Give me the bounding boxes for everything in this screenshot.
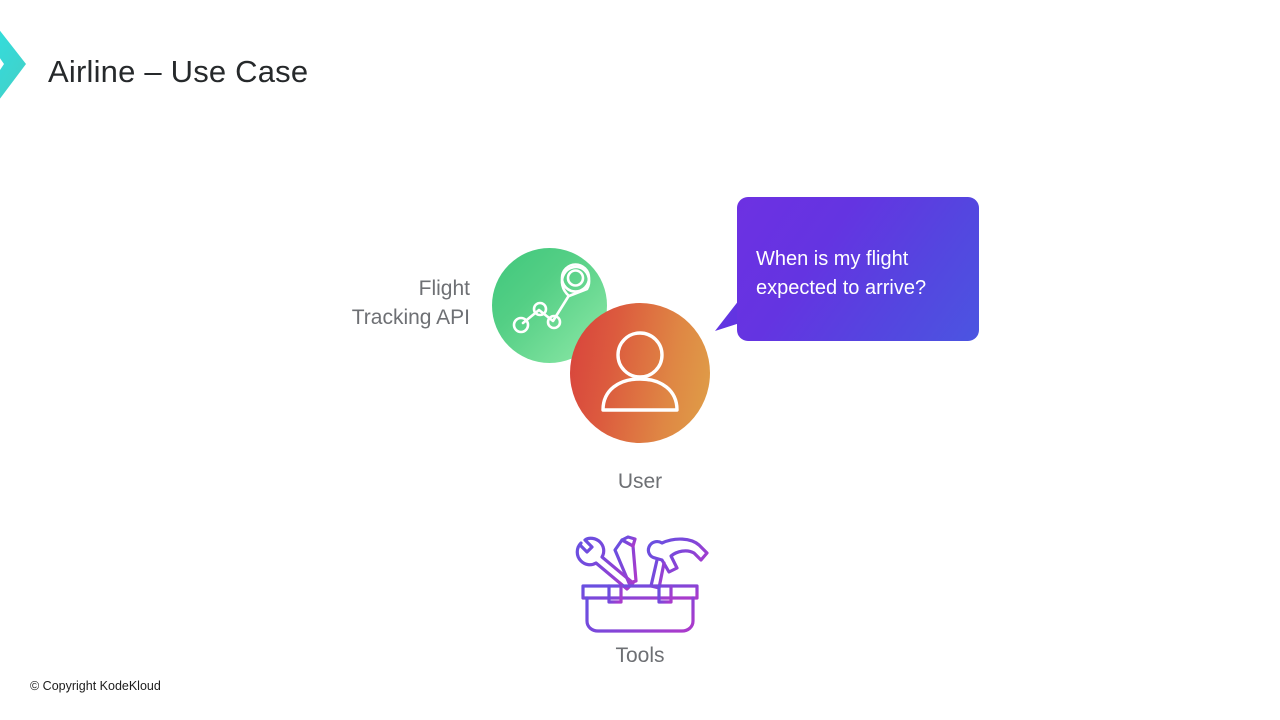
toolbox-icon bbox=[565, 526, 715, 636]
speech-bubble-text: When is my flight expected to arrive? bbox=[756, 245, 971, 303]
tools-node-icon bbox=[565, 526, 715, 636]
speech-bubble-line-2: expected to arrive? bbox=[756, 274, 971, 303]
api-node-label: Flight Tracking API bbox=[252, 274, 470, 332]
api-label-line-2: Tracking API bbox=[252, 303, 470, 332]
copyright-footer: © Copyright KodeKloud bbox=[30, 679, 161, 693]
kodekloud-chevron-logo bbox=[0, 16, 30, 116]
tools-node-label: Tools bbox=[540, 644, 740, 668]
speech-bubble: When is my flight expected to arrive? bbox=[737, 197, 979, 341]
person-icon bbox=[570, 303, 710, 443]
slide-canvas: Airline – Use Case Flight Tracking API bbox=[0, 0, 1280, 720]
page-title: Airline – Use Case bbox=[48, 54, 308, 90]
user-node-label: User bbox=[540, 470, 740, 494]
speech-bubble-line-1: When is my flight bbox=[756, 245, 971, 274]
api-label-line-1: Flight bbox=[252, 274, 470, 303]
user-node-circle bbox=[570, 303, 710, 443]
